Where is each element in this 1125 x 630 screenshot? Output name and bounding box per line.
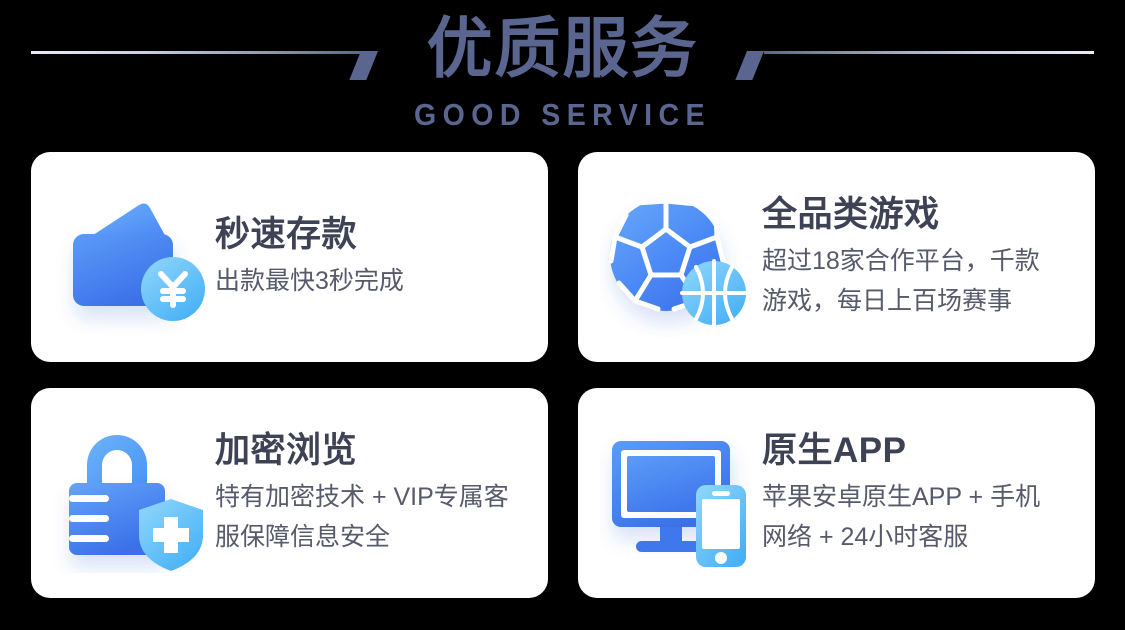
page-title: 优质服务 [0,6,1125,90]
card-title: 加密浏览 [215,429,509,473]
card-subtitle-line: 游戏，每日上百场赛事 [762,281,1040,321]
card-subtitle-line: 超过18家合作平台，千款 [762,241,1040,281]
card-title: 全品类游戏 [762,193,1040,237]
page-subtitle: GOOD SERVICE [45,96,1080,134]
page-header: 优质服务 GOOD SERVICE [0,0,1125,146]
feature-card-all-games[interactable]: 全品类游戏 超过18家合作平台，千款 游戏，每日上百场赛事 [578,152,1095,362]
lock-shield-icon [53,413,213,573]
card-text-block: 全品类游戏 超过18家合作平台，千款 游戏，每日上百场赛事 [762,193,1054,321]
card-subtitle-line: 特有加密技术 + VIP专属客 [215,477,509,517]
card-text-block: 原生APP 苹果安卓原生APP + 手机 网络 + 24小时客服 [762,429,1054,557]
card-subtitle: 苹果安卓原生APP + 手机 网络 + 24小时客服 [762,477,1040,557]
card-title: 秒速存款 [215,213,404,257]
card-subtitle-line: 出款最快3秒完成 [215,261,404,301]
feature-card-instant-deposit[interactable]: 秒速存款 出款最快3秒完成 [31,152,548,362]
monitor-phone-icon [600,413,760,573]
card-title: 原生APP [762,429,1040,473]
card-subtitle-line: 网络 + 24小时客服 [762,517,1040,557]
soccer-basketball-icon [600,177,760,337]
feature-card-native-app[interactable]: 原生APP 苹果安卓原生APP + 手机 网络 + 24小时客服 [578,388,1095,598]
wallet-icon [53,177,213,337]
card-subtitle-line: 苹果安卓原生APP + 手机 [762,477,1040,517]
card-subtitle-line: 服保障信息安全 [215,517,509,557]
feature-card-grid: 秒速存款 出款最快3秒完成 [31,152,1095,598]
card-text-block: 加密浏览 特有加密技术 + VIP专属客 服保障信息安全 [215,429,523,557]
card-subtitle: 出款最快3秒完成 [215,261,404,301]
card-subtitle: 超过18家合作平台，千款 游戏，每日上百场赛事 [762,241,1040,321]
feature-card-encrypted-browsing[interactable]: 加密浏览 特有加密技术 + VIP专属客 服保障信息安全 [31,388,548,598]
card-text-block: 秒速存款 出款最快3秒完成 [215,213,418,301]
card-subtitle: 特有加密技术 + VIP专属客 服保障信息安全 [215,477,509,557]
